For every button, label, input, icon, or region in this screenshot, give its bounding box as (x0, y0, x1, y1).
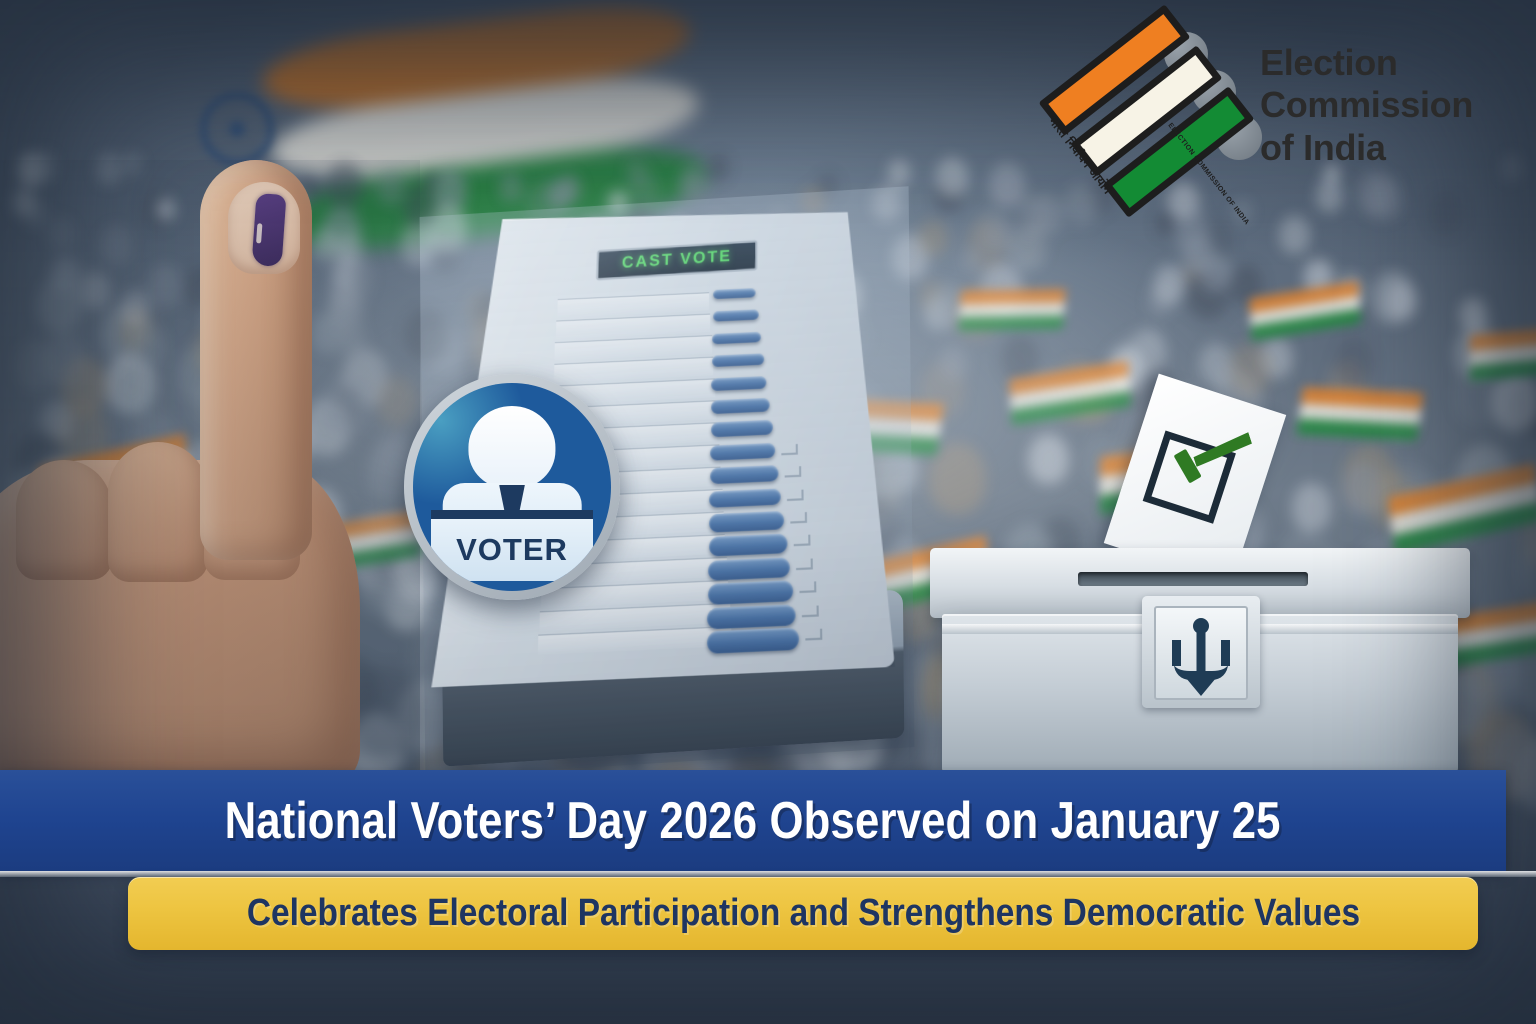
eci-emblem: भारत निर्वाचन आयोग ELECTION COMMISSION O… (1064, 26, 1254, 206)
headline-text: National Voters’ Day 2026 Observed on Ja… (225, 791, 1281, 851)
eci-title: Election Commission of India (1260, 42, 1528, 169)
eci-logo-block: भारत निर्वाचन आयोग ELECTION COMMISSION O… (1060, 18, 1520, 208)
eci-tricolour-bars (1039, 0, 1278, 235)
eci-title-line-1: Election (1260, 42, 1528, 84)
eci-title-line-3: of India (1260, 127, 1528, 169)
eci-title-line-2: Commission (1260, 84, 1528, 126)
poster-root: CAST VOTE VOTER (0, 0, 1536, 1024)
subtitle-banner: Celebrates Electoral Participation and S… (128, 877, 1478, 950)
subtitle-text: Celebrates Electoral Participation and S… (246, 892, 1359, 935)
headline-banner: National Voters’ Day 2026 Observed on Ja… (0, 770, 1506, 871)
